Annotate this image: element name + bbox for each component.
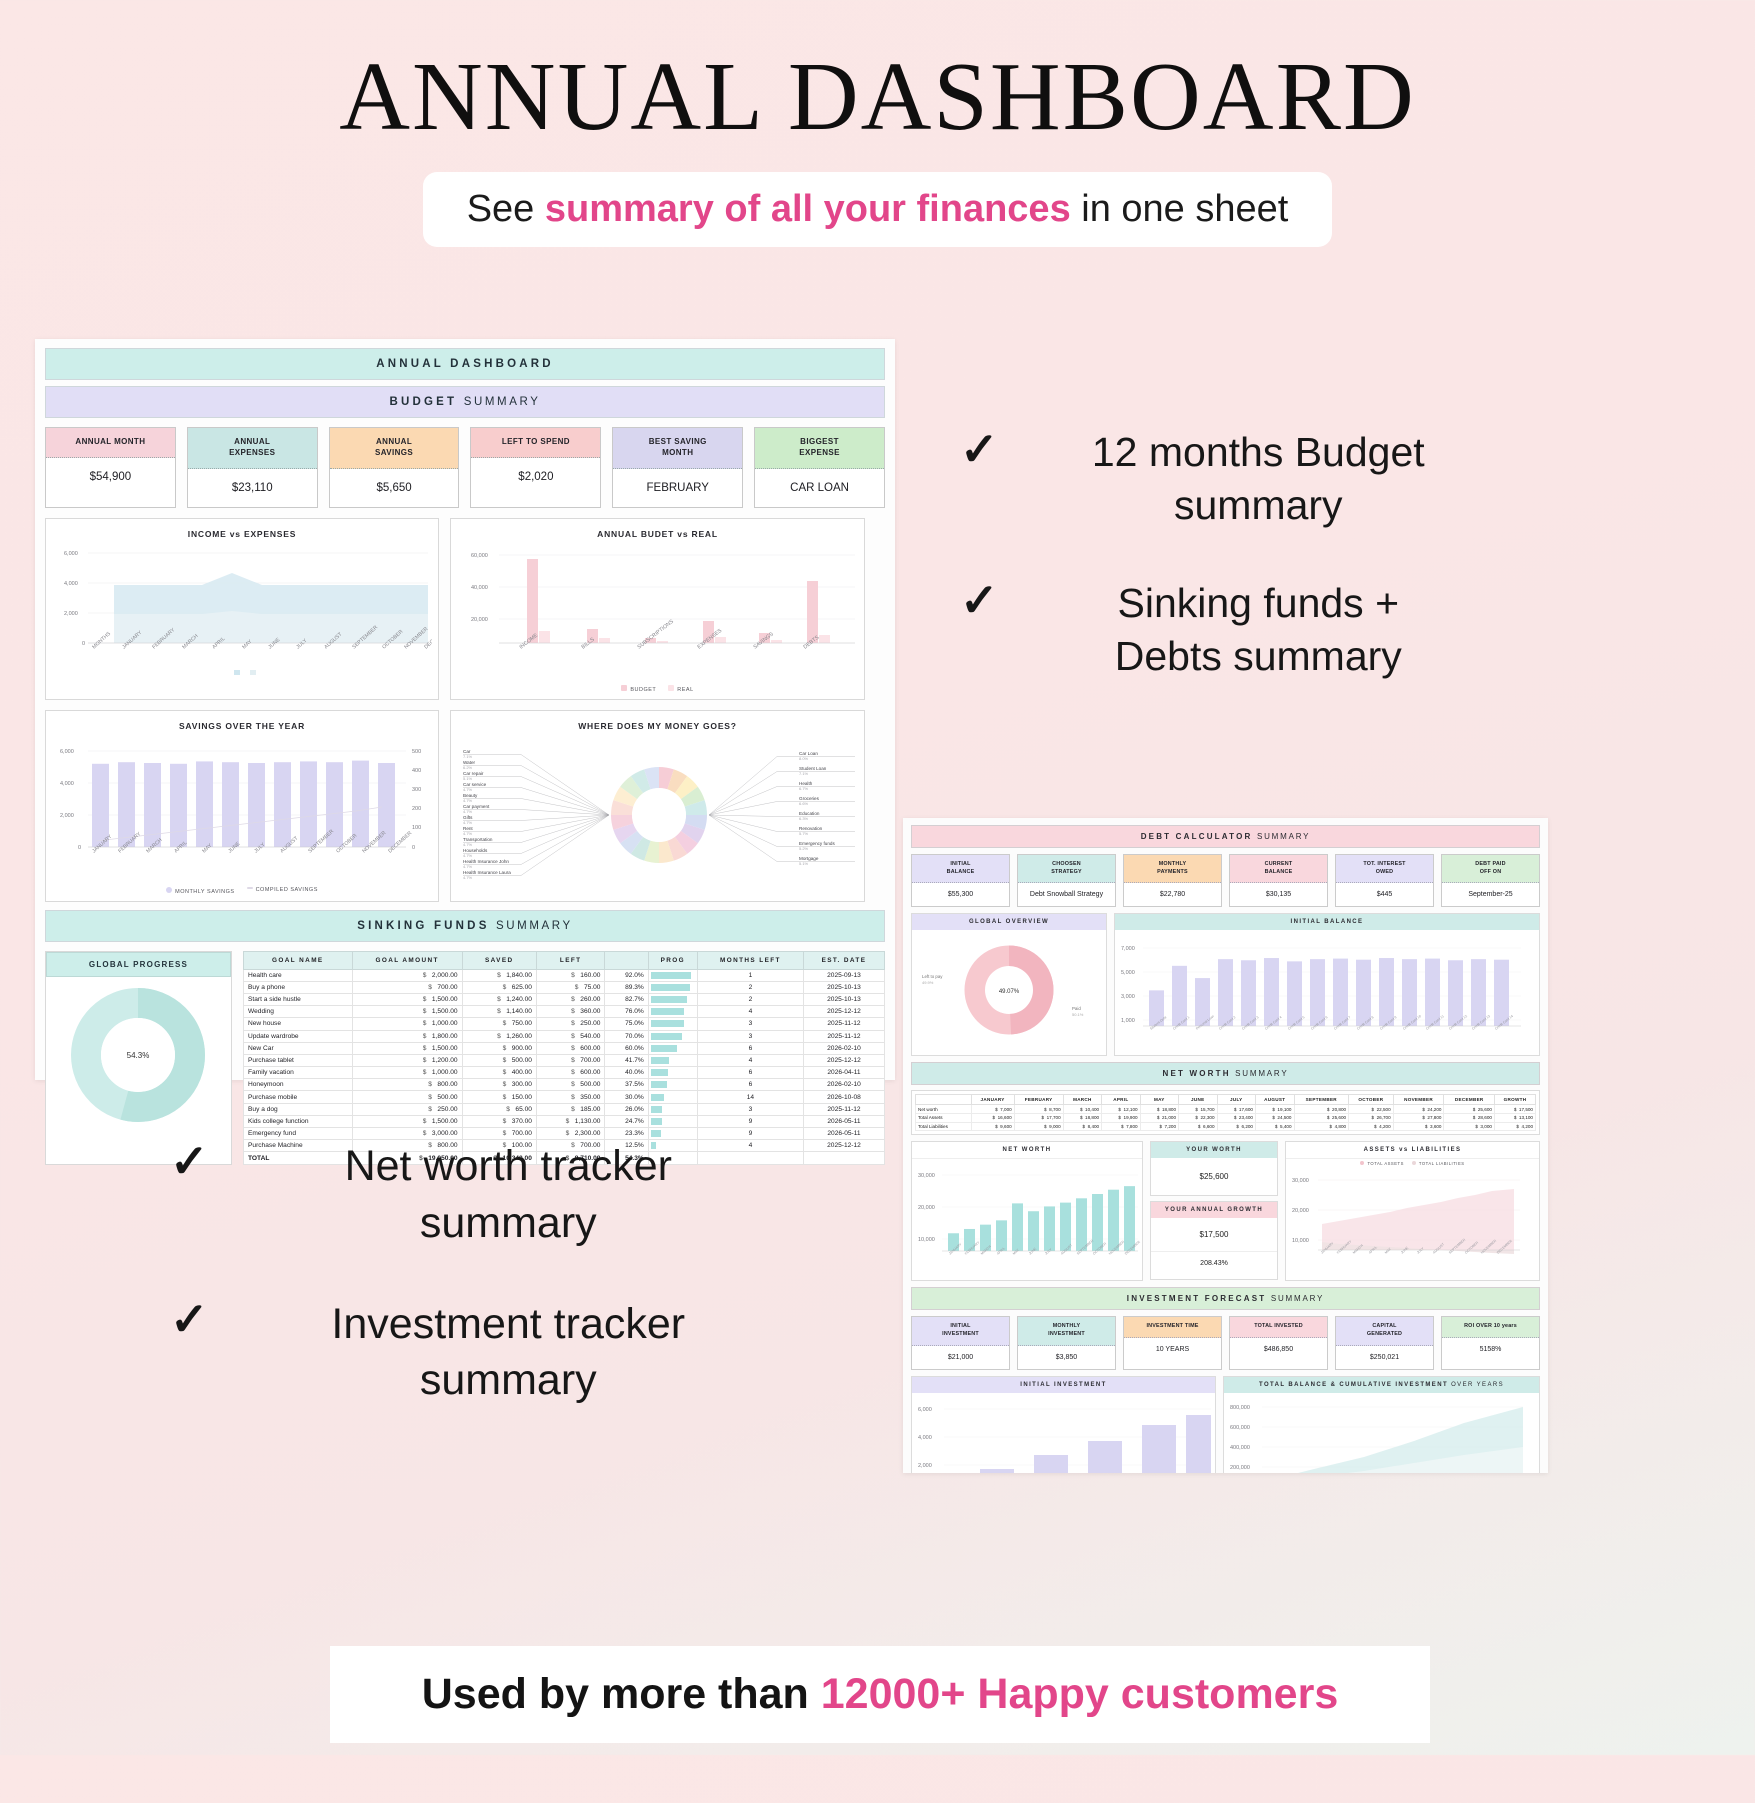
global-progress-label: GLOBAL PROGRESS [46, 952, 231, 977]
cell-pct: 75.0% [605, 1018, 648, 1030]
table-row[interactable]: Update wardrobe$ 1,800.00$ 1,260.00$ 540… [244, 1030, 885, 1042]
svg-text:2,000: 2,000 [918, 1463, 932, 1469]
kpi-label: CAPITALGENERATED [1336, 1317, 1433, 1345]
svg-text:5.1%: 5.1% [463, 776, 473, 781]
cell-amount: $ 1,500.00 [352, 1042, 462, 1054]
feature-bullets-right: ✓12 months Budgetsummary✓Sinking funds +… [960, 426, 1500, 727]
nw-cell: $ 15,700 [1179, 1105, 1217, 1114]
cell-left: $ 540.00 [536, 1030, 605, 1042]
cell-date: 2025-11-12 [803, 1030, 884, 1042]
svg-text:5.1%: 5.1% [799, 861, 809, 866]
where-money-goes-card[interactable]: WHERE DOES MY MONEY GOES? Car7.1%Water6.… [450, 710, 865, 902]
th-7: EST. DATE [803, 951, 884, 969]
assets-vs-liab-title: ASSETS vs LIABILITIES [1286, 1142, 1539, 1159]
table-row[interactable]: Buy a phone$ 700.00$ 625.00$ 75.0089.3%2… [244, 981, 885, 993]
total-balance-card[interactable]: TOTAL BALANCE & CUMULATIVE INVESTMENT OV… [1223, 1376, 1540, 1473]
savings-legend: MONTHLY SAVINGS COMPILED SAVINGS [54, 884, 430, 895]
left-bullet-1: ✓Investment trackersummary [170, 1296, 790, 1410]
invest-kpi-card-0[interactable]: INITIALINVESTMENT$21,000 [911, 1316, 1010, 1369]
kpi-value: $486,850 [1230, 1338, 1327, 1361]
nw-cell: $ 8,400 [1063, 1122, 1101, 1131]
networth-chart-card[interactable]: NET WORTH 30,00020,000 10,000 JANUARYFEB… [911, 1141, 1143, 1281]
svg-text:30,000: 30,000 [918, 1173, 935, 1179]
cell-left: $ 600.00 [536, 1042, 605, 1054]
kpi-label: ANNUAL MONTH [46, 428, 175, 458]
annual-budget-vs-real-title: ANNUAL BUDET vs REAL [459, 525, 856, 545]
nw-th-2: FEBRUARY [1014, 1095, 1063, 1105]
budget-kpi-card-0[interactable]: ANNUAL MONTH$54,900 [45, 427, 176, 508]
cell-months: 6 [697, 1067, 803, 1079]
svg-text:7.1%: 7.1% [799, 771, 809, 776]
cell-left: $ 1,130.00 [536, 1115, 605, 1127]
invest-kpi-card-5[interactable]: ROI OVER 10 years5158% [1441, 1316, 1540, 1369]
debt-networth-sheet[interactable]: DEBT CALCULATOR SUMMARY INITIALBALANCE$5… [903, 818, 1548, 1473]
nw-cell: $ 26,700 [1349, 1113, 1394, 1122]
cell-goal: Buy a phone [244, 981, 353, 993]
sheet-title-band: ANNUAL DASHBOARD [45, 348, 885, 380]
svg-text:6.7%: 6.7% [799, 786, 809, 791]
debt-kpi-card-5[interactable]: DEBT PAIDOFF ONSeptember-25 [1441, 854, 1540, 907]
global-overview-title: GLOBAL OVERVIEW [912, 914, 1106, 930]
initial-investment-card[interactable]: INITIAL INVESTMENT 6,0004,000 2,000 [911, 1376, 1216, 1473]
svg-text:49.07%: 49.07% [999, 989, 1020, 995]
svg-text:300: 300 [412, 787, 421, 793]
nw-cell: $ 19,900 [1102, 1113, 1140, 1122]
cell-date: 2026-05-11 [803, 1115, 884, 1127]
table-row[interactable]: Family vacation$ 1,000.00$ 400.00$ 600.0… [244, 1067, 885, 1079]
kpi-value: $250,021 [1336, 1346, 1433, 1369]
debt-kpi-card-2[interactable]: MONTHLYPAYMENTS$22,780 [1123, 854, 1222, 907]
cell-goal: Purchase mobile [244, 1091, 353, 1103]
svg-text:6,000: 6,000 [918, 1407, 932, 1413]
cell-saved: $ 1,840.00 [462, 969, 536, 981]
cell-saved: $ 150.00 [462, 1091, 536, 1103]
nw-cell: $ 6,600 [1179, 1122, 1217, 1131]
kpi-label: CURRENTBALANCE [1230, 855, 1327, 883]
cell-progress [648, 1115, 697, 1127]
charts-row-top: INCOME vs EXPENSES 6,0004,000 2,0000 MON… [45, 518, 885, 700]
kpi-label: BEST SAVINGMONTH [613, 428, 742, 469]
your-growth-card[interactable]: YOUR ANNUAL GROWTH $17,500 208.43% [1150, 1201, 1278, 1280]
assets-vs-liabilities-card[interactable]: ASSETS vs LIABILITIES TOTAL ASSETS TOTAL… [1285, 1141, 1540, 1281]
svg-text:7,000: 7,000 [1121, 946, 1135, 952]
nw-cell: $ 24,200 [1393, 1105, 1444, 1114]
cell-pct: 30.0% [605, 1091, 648, 1103]
cell-goal: Kids college function [244, 1115, 353, 1127]
cell-amount: $ 1,500.00 [352, 1006, 462, 1018]
table-row[interactable]: Health care$ 2,000.00$ 1,840.00$ 160.009… [244, 969, 885, 981]
cell-left: $ 160.00 [536, 969, 605, 981]
sinking-band-bold: SINKING FUNDS [357, 920, 489, 932]
nw-cell: $ 7,000 [971, 1105, 1014, 1114]
budget-kpi-card-3[interactable]: LEFT TO SPEND$2,020 [470, 427, 601, 508]
svg-text:49.9%: 49.9% [922, 980, 934, 985]
nw-th-12: DECEMBER [1444, 1095, 1494, 1105]
nw-cell: $ 28,600 [1444, 1113, 1494, 1122]
nw-cell: $ 9,600 [971, 1122, 1014, 1131]
cell-months: 1 [697, 969, 803, 981]
cell-date: 2025-11-12 [803, 1103, 884, 1115]
global-overview-donut: 49.07% Left to pay 49.9% Paid 50.1% [912, 930, 1106, 1050]
svg-text:4.7%: 4.7% [463, 820, 473, 825]
svg-text:4.7%: 4.7% [463, 853, 473, 858]
svg-text:500: 500 [412, 749, 421, 755]
nw-label: Net worth [916, 1105, 972, 1114]
sinking-funds-row: GLOBAL PROGRESS 54.3% GOAL NAMEGOAL AMOU… [45, 951, 885, 1165]
nw-cell: $ 21,000 [1140, 1113, 1178, 1122]
th-1: GOAL AMOUNT [352, 951, 462, 969]
nw-cell: $ 25,600 [1294, 1113, 1349, 1122]
svg-text:4.7%: 4.7% [463, 842, 473, 847]
cell-pct: 82.7% [605, 993, 648, 1005]
networth-row[interactable]: Total Liabilities$ 9,600$ 9,000$ 8,400$ … [916, 1122, 1536, 1131]
budget-summary-band: BUDGET SUMMARY [45, 386, 885, 418]
nw-cell: $ 12,100 [1102, 1105, 1140, 1114]
cell-amount: $ 800.00 [352, 1079, 462, 1091]
cell-left: $ 700.00 [536, 1054, 605, 1066]
svg-text:5.2%: 5.2% [799, 846, 809, 851]
your-growth-pct: 208.43% [1151, 1251, 1277, 1279]
nw-th-11: NOVEMBER [1393, 1095, 1444, 1105]
svg-text:6.2%: 6.2% [463, 765, 473, 770]
worth-stats-column: YOUR WORTH $25,600 YOUR ANNUAL GROWTH $1… [1150, 1141, 1278, 1281]
th-5: PROG [648, 951, 697, 969]
annual-budget-vs-real-card[interactable]: ANNUAL BUDET vs REAL 60,00040,000 20,000 [450, 518, 865, 700]
svg-text:0: 0 [412, 845, 415, 851]
cell-pct: 92.0% [605, 969, 648, 981]
cell-amount: $ 1,500.00 [352, 1115, 462, 1127]
assets-vs-liab-chart: 30,00020,000 10,000 JANUARYFEBRUARYMARCH… [1286, 1166, 1524, 1270]
networth-table-wrap[interactable]: JANUARYFEBRUARYMARCHAPRILMAYJUNEJULYAUGU… [911, 1090, 1540, 1135]
your-worth-label: YOUR WORTH [1151, 1142, 1277, 1158]
table-row[interactable]: New Car$ 1,500.00$ 900.00$ 600.0060.0%62… [244, 1042, 885, 1054]
cell-pct: 89.3% [605, 981, 648, 993]
cell-progress [648, 1091, 697, 1103]
budget-kpi-card-5[interactable]: BIGGESTEXPENSECAR LOAN [754, 427, 885, 508]
nw-cell: $ 17,700 [1014, 1113, 1063, 1122]
networth-row[interactable]: Net worth$ 7,000$ 8,700$ 10,400$ 12,100$… [916, 1105, 1536, 1114]
nw-th-0 [916, 1095, 972, 1105]
svg-text:Paid: Paid [1072, 1006, 1081, 1011]
table-row[interactable]: Buy a dog$ 250.00$ 65.00$ 185.0026.0%320… [244, 1103, 885, 1115]
kpi-value: CAR LOAN [755, 469, 884, 507]
budget-kpi-card-1[interactable]: ANNUALEXPENSES$23,110 [187, 427, 318, 508]
debt-kpi-card-1[interactable]: CHOOSENSTRATEGYDebt Snowball Strategy [1017, 854, 1116, 907]
cell-goal: New house [244, 1018, 353, 1030]
cell-goal: Health care [244, 969, 353, 981]
svg-text:6,000: 6,000 [64, 551, 78, 557]
nw-cell: $ 3,000 [1444, 1122, 1494, 1131]
cell-progress [648, 1079, 697, 1091]
kpi-value: $23,110 [188, 469, 317, 507]
debt-charts-row: GLOBAL OVERVIEW 49.07% Left to pay 49.9%… [911, 913, 1540, 1056]
your-worth-card[interactable]: YOUR WORTH $25,600 [1150, 1141, 1278, 1196]
kpi-label: ROI OVER 10 years [1442, 1317, 1539, 1338]
budget-kpi-card-4[interactable]: BEST SAVINGMONTHFEBRUARY [612, 427, 743, 508]
income-vs-expenses-title: INCOME vs EXPENSES [54, 525, 430, 545]
cell-months: 3 [697, 1030, 803, 1042]
cell-amount: $ 500.00 [352, 1091, 462, 1103]
cell-months: 4 [697, 1006, 803, 1018]
cell-months: 14 [697, 1091, 803, 1103]
cell-pct: 76.0% [605, 1006, 648, 1018]
cell-left: $ 600.00 [536, 1067, 605, 1079]
budget-band-thin: SUMMARY [464, 396, 541, 408]
nw-cell: $ 17,500 [1494, 1105, 1535, 1114]
cell-months: 9 [697, 1115, 803, 1127]
cell-progress [648, 1018, 697, 1030]
kpi-value: $54,900 [46, 458, 175, 496]
svg-text:0: 0 [82, 641, 85, 647]
income-vs-expenses-chart: 6,0004,000 2,0000 MONTHS JANUARY FEBRUAR… [54, 545, 432, 677]
kpi-value: Debt Snowball Strategy [1018, 883, 1115, 906]
footer-pre: Used by more than [422, 1670, 821, 1718]
nw-th-7: JULY [1217, 1095, 1255, 1105]
cell-saved: $ 370.00 [462, 1115, 536, 1127]
nw-cell: $ 18,800 [1140, 1105, 1178, 1114]
kpi-label: DEBT PAIDOFF ON [1442, 855, 1539, 883]
svg-text:2,000: 2,000 [60, 813, 74, 819]
global-progress-donut: 54.3% [46, 977, 231, 1133]
kpi-value: 5158% [1442, 1338, 1539, 1361]
svg-text:30,000: 30,000 [1292, 1178, 1309, 1184]
cell-date: 2026-02-10 [803, 1079, 884, 1091]
cell-left: $ 260.00 [536, 993, 605, 1005]
cell-date: 2026-10-08 [803, 1091, 884, 1103]
table-row[interactable]: New house$ 1,000.00$ 750.00$ 250.0075.0%… [244, 1018, 885, 1030]
budget-kpi-card-2[interactable]: ANNUALSAVINGS$5,650 [329, 427, 460, 508]
th-6: MONTHS LEFT [697, 951, 803, 969]
total-balance-thin: OVER YEARS [1451, 1382, 1504, 1388]
cell-pct: 60.0% [605, 1042, 648, 1054]
subtitle-post: in one sheet [1071, 188, 1289, 230]
cell-saved: $ 65.00 [462, 1103, 536, 1115]
table-row[interactable]: Purchase mobile$ 500.00$ 150.00$ 350.003… [244, 1091, 885, 1103]
cell-saved: $ 500.00 [462, 1054, 536, 1066]
initial-investment-chart: 6,0004,000 2,000 [912, 1393, 1215, 1473]
cell-pct: 70.0% [605, 1030, 648, 1042]
nw-th-13: GROWTH [1494, 1095, 1535, 1105]
savings-over-year-card[interactable]: SAVINGS OVER THE YEAR 6,0004,000 2,0000 … [45, 710, 439, 902]
networth-band-bold: NET WORTH [1162, 1069, 1230, 1078]
right-bullet-1: ✓Sinking funds +Debts summary [960, 577, 1500, 684]
cell-saved: $ 1,140.00 [462, 1006, 536, 1018]
networth-header-row: JANUARYFEBRUARYMARCHAPRILMAYJUNEJULYAUGU… [916, 1095, 1536, 1105]
cell-progress [648, 981, 697, 993]
table-row[interactable]: Kids college function$ 1,500.00$ 370.00$… [244, 1115, 885, 1127]
cell-months: 3 [697, 1103, 803, 1115]
charts-row-bottom: SAVINGS OVER THE YEAR 6,0004,000 2,0000 … [45, 710, 885, 902]
cell-pct: 41.7% [605, 1054, 648, 1066]
budget-kpi-row: ANNUAL MONTH$54,900ANNUALEXPENSES$23,110… [45, 427, 885, 508]
kpi-label: TOT. INTERESTOWED [1336, 855, 1433, 883]
cell-months: 3 [697, 1018, 803, 1030]
kpi-value: September-25 [1442, 883, 1539, 906]
th-0: GOAL NAME [244, 951, 353, 969]
nw-cell: $ 7,200 [1140, 1122, 1178, 1131]
th-4 [605, 951, 648, 969]
cell-date: 2025-12-12 [803, 1054, 884, 1066]
svg-text:MONTHS: MONTHS [91, 630, 112, 650]
invest-kpi-card-2[interactable]: INVESTMENT TIME10 YEARS [1123, 1316, 1222, 1369]
cell-date: 2026-04-11 [803, 1067, 884, 1079]
svg-text:8.0%: 8.0% [799, 756, 809, 761]
nw-cell: $ 7,800 [1102, 1122, 1140, 1131]
budget-band-bold: BUDGET [390, 396, 458, 408]
nw-cell: $ 10,400 [1063, 1105, 1101, 1114]
nw-cell: $ 8,700 [1014, 1105, 1063, 1114]
cell-saved: $ 1,260.00 [462, 1030, 536, 1042]
svg-text:10,000: 10,000 [1292, 1238, 1309, 1244]
cell-saved: $ 750.00 [462, 1018, 536, 1030]
check-icon: ✓ [960, 426, 999, 533]
nw-cell: $ 17,600 [1217, 1105, 1255, 1114]
svg-text:0: 0 [78, 845, 81, 851]
svg-text:4.7%: 4.7% [463, 787, 473, 792]
kpi-label: BIGGESTEXPENSE [755, 428, 884, 469]
budget-real-legend: BUDGET REAL [459, 682, 856, 693]
investment-forecast-band: INVESTMENT FORECAST SUMMARY [911, 1287, 1540, 1310]
networth-row[interactable]: Total Assets$ 16,600$ 17,700$ 18,800$ 19… [916, 1113, 1536, 1122]
kpi-value: 10 YEARS [1124, 1338, 1221, 1361]
debt-calculator-band: DEBT CALCULATOR SUMMARY [911, 825, 1540, 848]
svg-text:200: 200 [412, 806, 421, 812]
kpi-value: $2,020 [471, 458, 600, 496]
annual-dashboard-sheet[interactable]: ANNUAL DASHBOARD BUDGET SUMMARY ANNUAL M… [35, 339, 895, 1080]
debt-kpi-row: INITIALBALANCE$55,300CHOOSENSTRATEGYDebt… [911, 854, 1540, 907]
total-balance-title: TOTAL BALANCE & CUMULATIVE INVESTMENT OV… [1224, 1377, 1539, 1393]
nw-cell: $ 22,500 [1349, 1105, 1394, 1114]
nw-cell: $ 9,000 [1014, 1122, 1063, 1131]
networth-band-thin: SUMMARY [1235, 1069, 1288, 1078]
cell-progress [648, 1067, 697, 1079]
svg-text:SUBSCRIPTIONS: SUBSCRIPTIONS [637, 618, 676, 650]
table-row[interactable]: Honeymoon$ 800.00$ 300.00$ 500.0037.5%62… [244, 1079, 885, 1091]
cell-amount: $ 1,000.00 [352, 1018, 462, 1030]
nw-cell: $ 3,600 [1393, 1122, 1444, 1131]
kpi-label: INITIALINVESTMENT [912, 1317, 1009, 1345]
svg-text:50.1%: 50.1% [1072, 1012, 1084, 1017]
networth-table: JANUARYFEBRUARYMARCHAPRILMAYJUNEJULYAUGU… [915, 1094, 1536, 1131]
kpi-label: INVESTMENT TIME [1124, 1317, 1221, 1338]
cell-progress [648, 969, 697, 981]
nw-cell: $ 25,600 [1444, 1105, 1494, 1114]
global-progress-card[interactable]: GLOBAL PROGRESS 54.3% [45, 951, 232, 1165]
nw-th-3: MARCH [1063, 1095, 1101, 1105]
cell-months: 6 [697, 1079, 803, 1091]
nw-cell: $ 24,500 [1255, 1113, 1294, 1122]
cell-progress [648, 1006, 697, 1018]
invest-kpi-card-4[interactable]: CAPITALGENERATED$250,021 [1335, 1316, 1434, 1369]
subtitle-highlight: summary of all your finances [545, 188, 1071, 230]
where-money-goes-title: WHERE DOES MY MONEY GOES? [459, 717, 856, 737]
check-icon: ✓ [170, 1296, 209, 1410]
svg-text:3,000: 3,000 [1121, 994, 1135, 1000]
cell-progress [648, 993, 697, 1005]
svg-text:6.6%: 6.6% [799, 801, 809, 806]
table-row[interactable]: Purchase tablet$ 1,200.00$ 500.00$ 700.0… [244, 1054, 885, 1066]
kpi-label: CHOOSENSTRATEGY [1018, 855, 1115, 883]
nw-cell: $ 4,200 [1349, 1122, 1394, 1131]
bullet-text: Sinking funds +Debts summary [1017, 577, 1500, 684]
money-donut-chart: Car7.1%Water6.2%Car repair5.1%Car servic… [459, 737, 859, 889]
nw-th-5: MAY [1140, 1095, 1178, 1105]
sinking-funds-table-wrap[interactable]: GOAL NAMEGOAL AMOUNTSAVEDLEFTPROGMONTHS … [243, 951, 885, 1165]
debt-kpi-card-4[interactable]: TOT. INTERESTOWED$445 [1335, 854, 1434, 907]
kpi-value: $22,780 [1124, 883, 1221, 906]
cell-amount: $ 2,000.00 [352, 969, 462, 981]
cell-left: $ 250.00 [536, 1018, 605, 1030]
svg-text:20,000: 20,000 [1292, 1208, 1309, 1214]
check-icon: ✓ [960, 577, 999, 684]
debt-kpi-card-3[interactable]: CURRENTBALANCE$30,135 [1229, 854, 1328, 907]
debt-kpi-card-0[interactable]: INITIALBALANCE$55,300 [911, 854, 1010, 907]
table-row[interactable]: Wedding$ 1,500.00$ 1,140.00$ 360.0076.0%… [244, 1006, 885, 1018]
cell-goal: Update wardrobe [244, 1030, 353, 1042]
invest-kpi-card-3[interactable]: TOTAL INVESTED$486,850 [1229, 1316, 1328, 1369]
kpi-label: TOTAL INVESTED [1230, 1317, 1327, 1338]
nw-cell: $ 4,800 [1294, 1122, 1349, 1131]
cell-pct: 26.0% [605, 1103, 648, 1115]
svg-text:100: 100 [412, 825, 421, 831]
cell-date: 2025-11-12 [803, 1018, 884, 1030]
table-row[interactable]: Start a side hustle$ 1,500.00$ 1,240.00$… [244, 993, 885, 1005]
income-vs-expenses-card[interactable]: INCOME vs EXPENSES 6,0004,000 2,0000 MON… [45, 518, 439, 700]
cell-date: 2025-12-12 [803, 1006, 884, 1018]
nw-th-6: JUNE [1179, 1095, 1217, 1105]
kpi-value: $445 [1336, 883, 1433, 906]
initial-balance-title: INITIAL BALANCE [1115, 914, 1539, 930]
nw-cell: $ 27,800 [1393, 1113, 1444, 1122]
svg-text:6.3%: 6.3% [799, 816, 809, 821]
cell-progress [648, 1042, 697, 1054]
kpi-label: LEFT TO SPEND [471, 428, 600, 458]
net-worth-band: NET WORTH SUMMARY [911, 1062, 1540, 1085]
global-overview-card[interactable]: GLOBAL OVERVIEW 49.07% Left to pay 49.9%… [911, 913, 1107, 1056]
footer-banner: Used by more than 12000+ Happy customers [330, 1646, 1430, 1743]
cell-date: 2026-05-11 [803, 1128, 884, 1140]
svg-text:600,000: 600,000 [1230, 1425, 1250, 1431]
kpi-value: $30,135 [1230, 883, 1327, 906]
total-balance-bold: TOTAL BALANCE & CUMULATIVE INVESTMENT [1259, 1382, 1448, 1388]
kpi-label: MONTHLYINVESTMENT [1018, 1317, 1115, 1345]
svg-text:5.7%: 5.7% [799, 831, 809, 836]
cell-amount: $ 1,000.00 [352, 1067, 462, 1079]
nw-cell: $ 6,200 [1217, 1122, 1255, 1131]
total-balance-chart: 800,000600,000 400,000200,000 [1224, 1393, 1527, 1473]
nw-cell: $ 4,200 [1494, 1122, 1535, 1131]
cell-pct: 37.5% [605, 1079, 648, 1091]
cell-left: $ 75.00 [536, 981, 605, 993]
feature-bullets-left: ✓Net worth trackersummary✓Investment tra… [170, 1138, 790, 1453]
nw-th-4: APRIL [1102, 1095, 1140, 1105]
cell-goal: Wedding [244, 1006, 353, 1018]
svg-text:40,000: 40,000 [471, 585, 488, 591]
cell-progress [648, 1054, 697, 1066]
nw-th-10: OCTOBER [1349, 1095, 1394, 1105]
initial-balance-card[interactable]: INITIAL BALANCE 7,0005,000 3,0001,000 St… [1114, 913, 1540, 1056]
kpi-label: INITIALBALANCE [912, 855, 1009, 883]
svg-text:800,000: 800,000 [1230, 1405, 1250, 1411]
svg-text:400: 400 [412, 768, 421, 774]
invest-kpi-card-1[interactable]: MONTHLYINVESTMENT$3,850 [1017, 1316, 1116, 1369]
cell-saved: $ 625.00 [462, 981, 536, 993]
nw-th-8: AUGUST [1255, 1095, 1294, 1105]
svg-text:400,000: 400,000 [1230, 1445, 1250, 1451]
cell-left: $ 500.00 [536, 1079, 605, 1091]
kpi-value: $21,000 [912, 1346, 1009, 1369]
svg-text:20,000: 20,000 [471, 617, 488, 623]
